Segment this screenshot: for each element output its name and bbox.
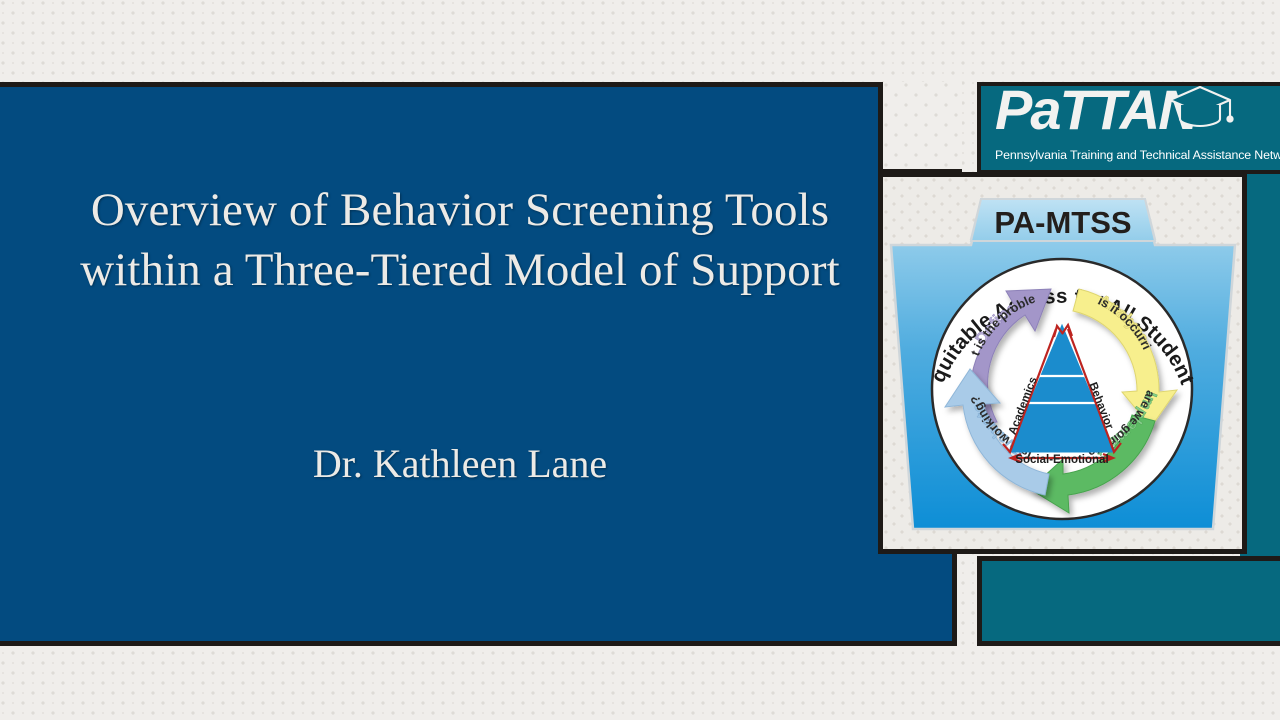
pattan-wordmark-pa: Pa [995, 82, 1060, 141]
slide-canvas: Overview of Behavior Screening Tools wit… [0, 0, 1280, 720]
pattan-tagline: Pennsylvania Training and Technical Assi… [995, 148, 1270, 162]
title-panel [0, 82, 957, 646]
title-panel-notch [878, 82, 962, 174]
title-block: Overview of Behavior Screening Tools wit… [40, 180, 880, 300]
triangle-label-social-emotional: Social-Emotional [1015, 454, 1108, 466]
page-title: Overview of Behavior Screening Tools wit… [40, 180, 880, 300]
pa-mtss-diagram-panel: PA-MTSS PA-MTSS Equitable Access for All… [878, 172, 1247, 554]
presenter-name: Dr. Kathleen Lane [40, 440, 880, 487]
pattan-logo: PaTTAN Pennsylvania Training and Technic… [977, 82, 1280, 174]
pa-mtss-diagram: PA-MTSS PA-MTSS Equitable Access for All… [883, 177, 1242, 549]
graduation-cap-icon [1164, 84, 1236, 130]
pa-mtss-header-text: PA-MTSS [994, 205, 1131, 240]
teal-accent-panel [977, 556, 1280, 646]
